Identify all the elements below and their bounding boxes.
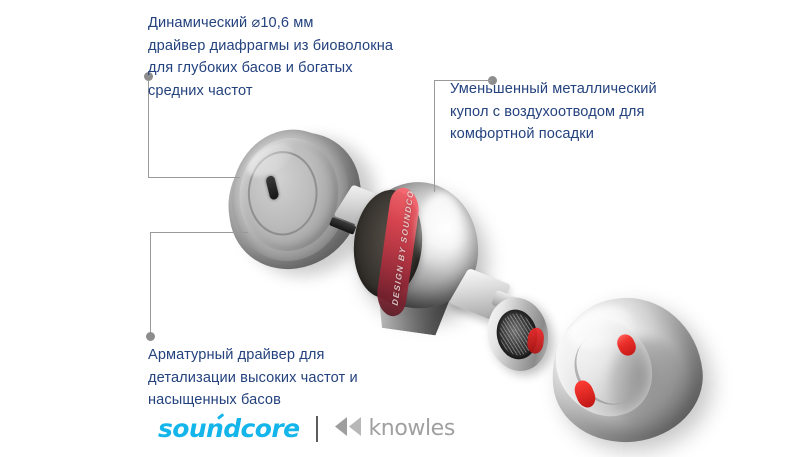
driver-stem (333, 184, 393, 231)
ear-tip-opening (542, 308, 667, 426)
driver-rim (220, 114, 361, 277)
leader-line-armature-horizontal (150, 232, 248, 233)
armature-core (492, 306, 542, 363)
dome-opening (347, 183, 429, 304)
leader-dot-armature (146, 332, 155, 341)
ear-tip-gloss-highlight (564, 300, 638, 357)
leader-line-armature-vertical (150, 232, 151, 336)
armature-red-accent (526, 327, 545, 355)
dynamic-driver-component (212, 115, 401, 287)
armature-outer-ring (481, 292, 555, 377)
soundcore-logo: soundcore (158, 414, 299, 443)
ear-tip-component (552, 298, 712, 448)
dome-body (347, 174, 487, 316)
knowles-wordmark-text: knowles (368, 416, 454, 441)
ear-tip-body (545, 291, 709, 450)
ear-tip-red-accent-top (614, 331, 639, 358)
dome-opening-rim (343, 178, 436, 310)
driver-connector-pin (372, 201, 408, 224)
callout-dynamic-driver: Динамический ⌀10,6 мм драйвер диафрагмы … (148, 12, 448, 102)
logo-divider (316, 416, 318, 442)
balanced-armature-component (481, 289, 567, 378)
dome-gloss-highlight (412, 189, 466, 268)
driver-body (220, 118, 369, 283)
soundcore-wordmark-text: soundcore (158, 414, 299, 443)
callout-metal-dome: Уменьшенный металлический купол с воздух… (450, 78, 720, 146)
knowles-logo: knowles (335, 416, 454, 441)
driver-vent-slot (265, 175, 279, 201)
infographic-canvas: DESIGN BY SOUNDCORE (0, 0, 800, 457)
driver-inner-ring (240, 142, 325, 245)
brand-logo-lockup: soundcore knowles (158, 414, 455, 443)
knowles-chevron-icon (335, 417, 361, 441)
dome-cone (361, 264, 465, 339)
ear-tip-red-accent-bottom (571, 378, 598, 411)
driver-highlight (243, 136, 297, 183)
driver-face (229, 124, 349, 264)
dome-nozzle-tip (491, 290, 521, 315)
ear-tip-ridge (561, 320, 656, 418)
dome-nozzle (449, 268, 512, 320)
callout-balanced-armature: Арматурный драйвер для детализации высок… (148, 344, 438, 412)
ear-tip-inner-shadow (608, 338, 686, 428)
dome-brand-engraving: DESIGN BY SOUNDCORE (390, 183, 417, 307)
armature-mesh (496, 310, 538, 358)
leader-line-dynamic-driver-horizontal (148, 177, 240, 178)
dome-red-band: DESIGN BY SOUNDCORE (375, 183, 421, 321)
driver-stem-dark-band (329, 217, 356, 235)
metal-dome-component: DESIGN BY SOUNDCORE (345, 178, 535, 353)
